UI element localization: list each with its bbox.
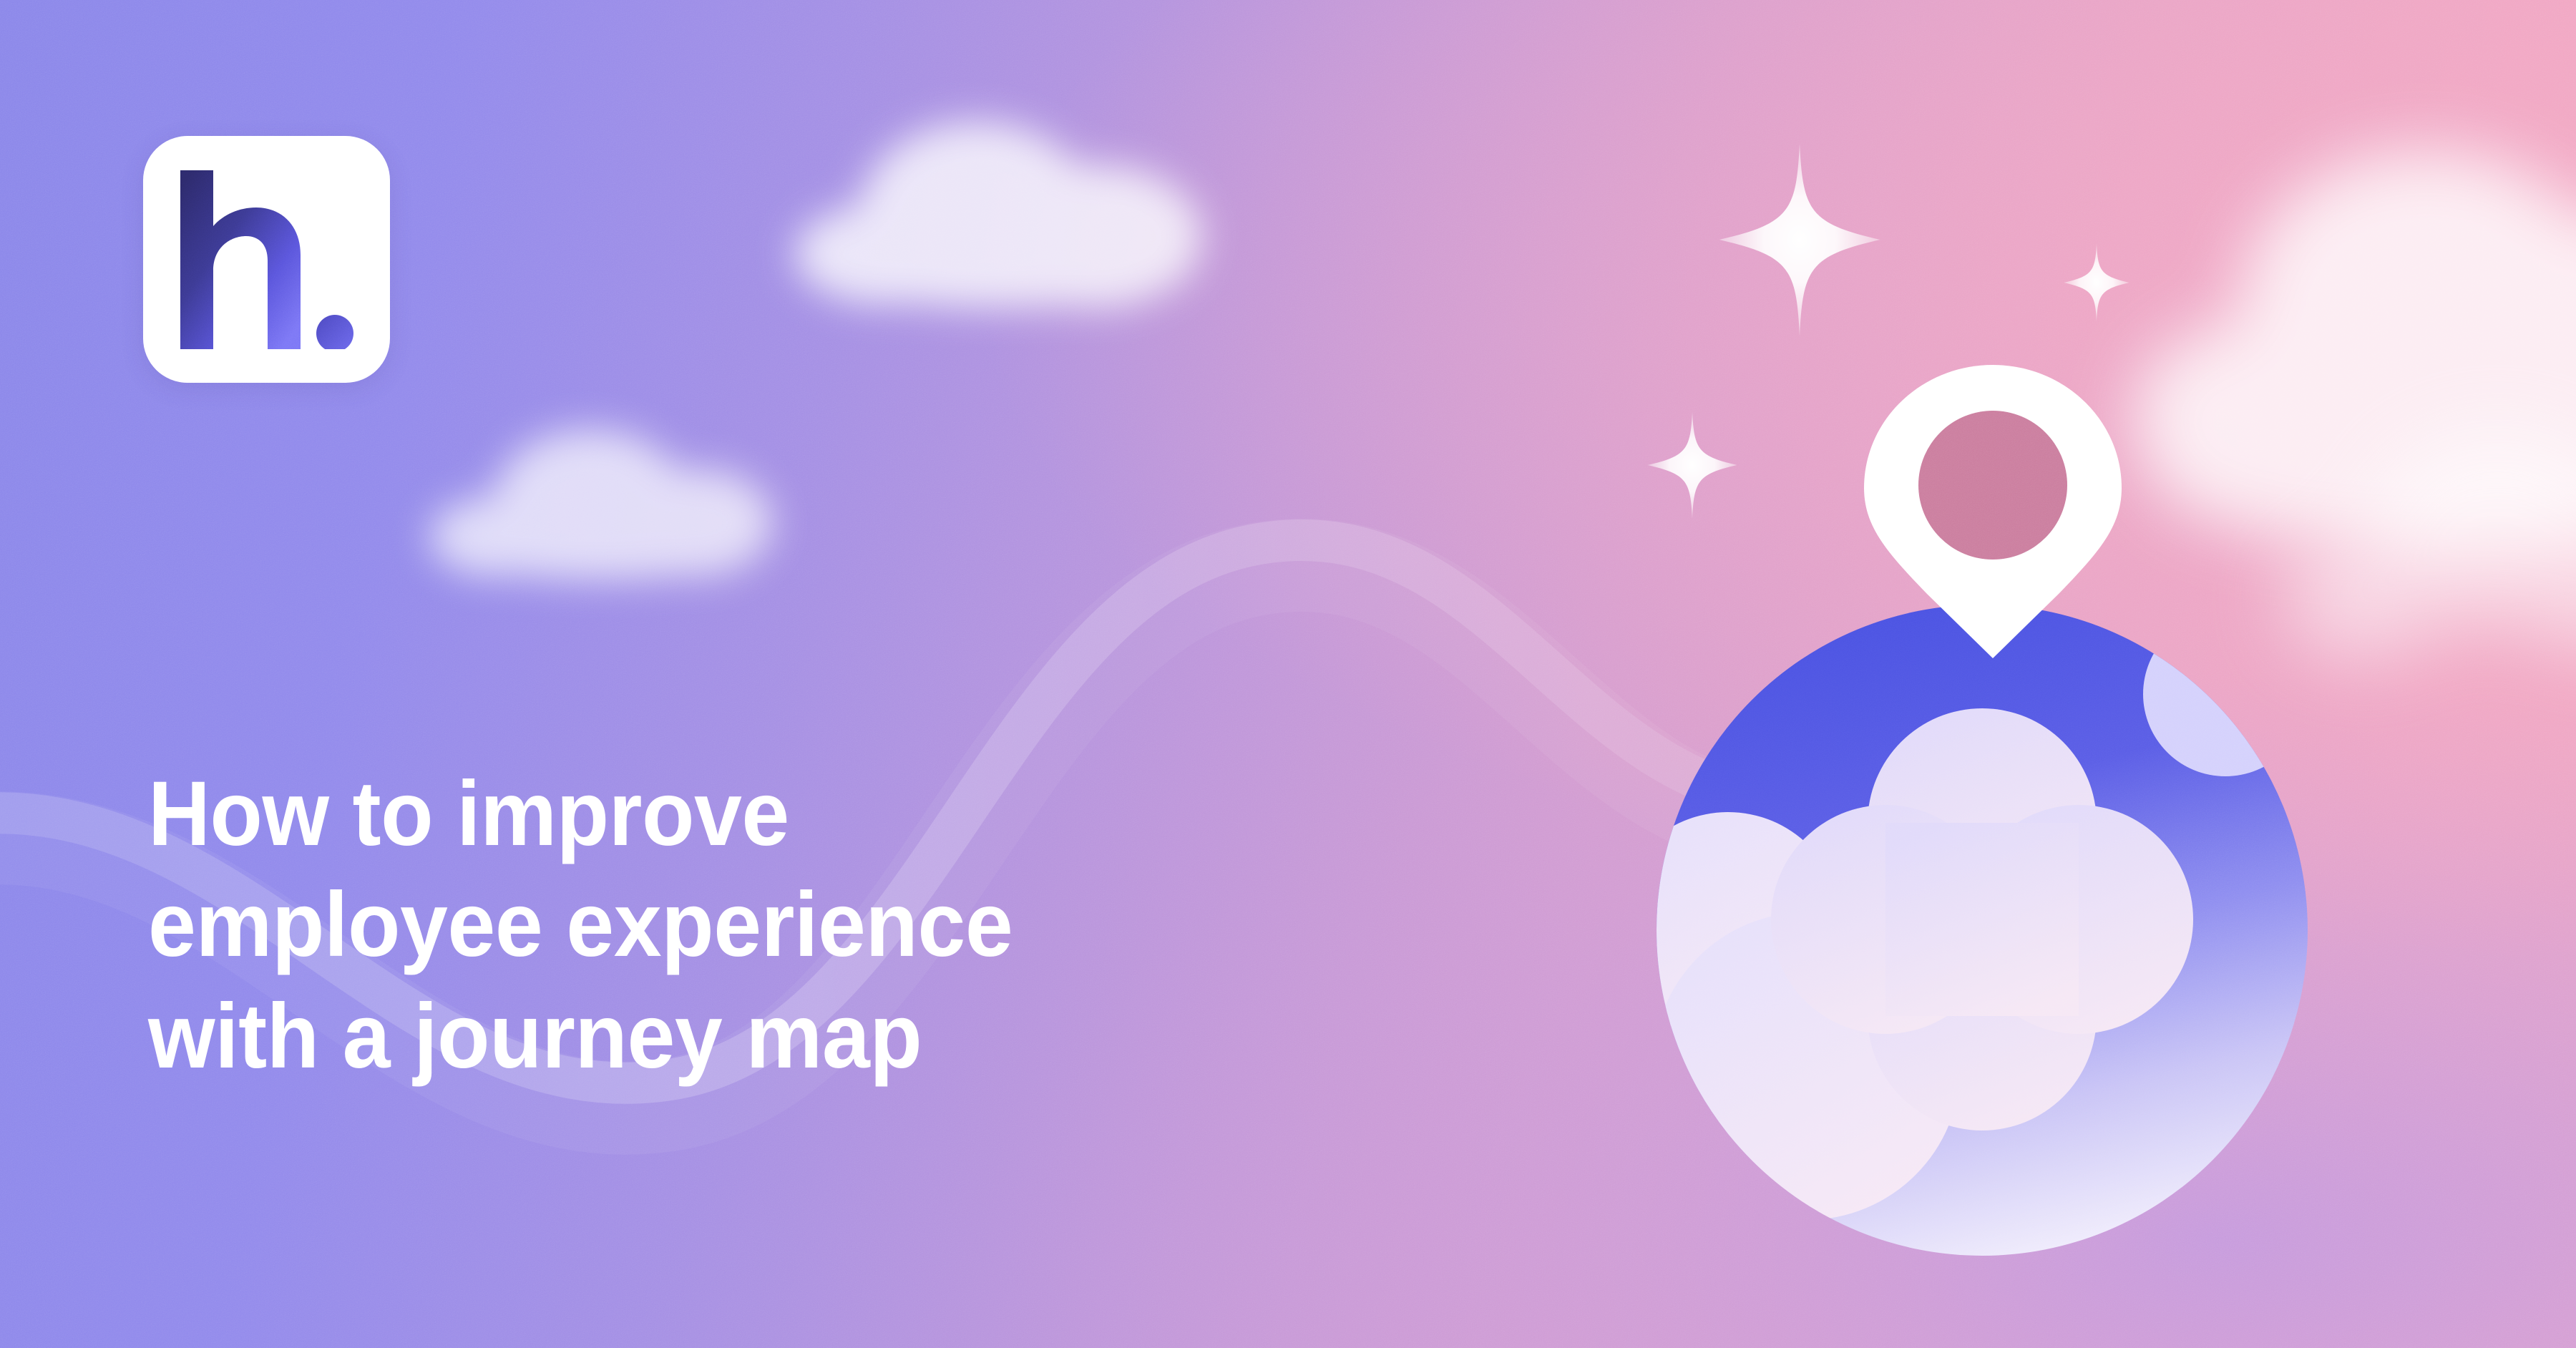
sparkle-icon [2061,243,2132,322]
map-pin-icon [1864,365,2122,658]
cloud-lobe [2132,322,2368,515]
cloud-right-big [2111,107,2576,565]
cloud-lobe [794,204,973,304]
logo-h-mark [180,170,356,349]
cloud-lobe [623,469,773,576]
cloud-mid-left [415,415,787,601]
cloud-right-low [2275,401,2576,701]
globe-illustration [1653,601,2311,1259]
cloud-lobe [2154,394,2576,551]
headline-line-3: with a journey map [148,992,1507,1081]
cloud-lobe [2240,150,2576,458]
cloud-lobe [2504,479,2576,651]
hero-banner: How to improve employee experience with … [0,0,2576,1348]
cloud-lobe [816,236,1188,308]
cloud-lobe [494,429,687,572]
cloud-lobe [429,497,558,576]
headline-line-2: employee experience [148,880,1507,970]
cloud-lobe [859,122,1095,308]
cloud-lobe [2368,429,2576,630]
sparkle-icon [1717,143,1882,336]
logo-tile[interactable] [143,136,390,383]
headline-line-1: How to improve [148,769,1507,859]
cloud-top-left [773,79,1231,315]
cloud-lobe [451,522,751,580]
cloud-lobe [987,165,1202,308]
cloud-lobe [2419,215,2576,501]
sparkle-icon [1646,411,1739,519]
page-title: How to improve employee experience with … [148,769,1507,1103]
